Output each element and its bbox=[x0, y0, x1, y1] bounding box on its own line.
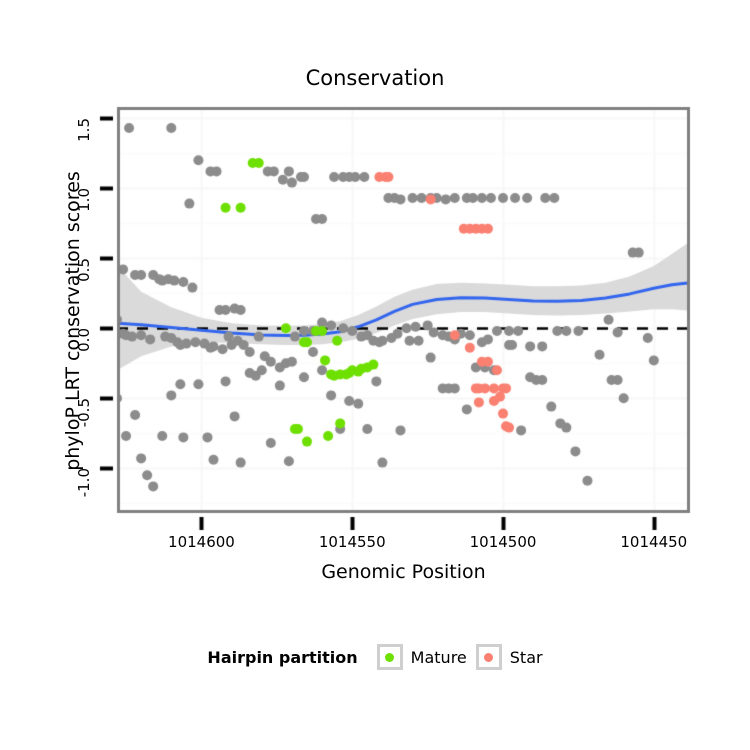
x-axis-title: Genomic Position bbox=[117, 561, 690, 583]
y-tick-label: 1.5 bbox=[75, 118, 93, 166]
legend-key-star bbox=[476, 644, 502, 670]
legend-label-mature: Mature bbox=[411, 648, 467, 667]
y-tick-label: 0.0 bbox=[75, 328, 93, 376]
legend-key-mature bbox=[377, 644, 403, 670]
x-tick-label: 1014600 bbox=[141, 533, 261, 551]
y-tick-label: -0.5 bbox=[75, 398, 93, 446]
y-tick-label: -1.0 bbox=[75, 468, 93, 516]
legend: Hairpin partition Mature Star bbox=[0, 644, 750, 670]
legend-entry-mature[interactable]: Mature bbox=[377, 644, 467, 670]
x-tick-label: 1014500 bbox=[443, 533, 563, 551]
legend-dot-star bbox=[484, 653, 493, 662]
legend-entry-star[interactable]: Star bbox=[476, 644, 543, 670]
y-tick-label: 1.0 bbox=[75, 188, 93, 236]
y-tick-label: 0.5 bbox=[75, 258, 93, 306]
legend-title: Hairpin partition bbox=[207, 648, 357, 667]
legend-label-star: Star bbox=[510, 648, 543, 667]
x-tick-label: 1014550 bbox=[292, 533, 412, 551]
conservation-scatter-plot bbox=[0, 0, 750, 750]
legend-dot-mature bbox=[385, 653, 394, 662]
x-tick-label: 1014450 bbox=[594, 533, 714, 551]
page-title: Conservation bbox=[0, 66, 750, 90]
chart-page: Conservation phyloP LRT conservation sco… bbox=[0, 0, 750, 750]
